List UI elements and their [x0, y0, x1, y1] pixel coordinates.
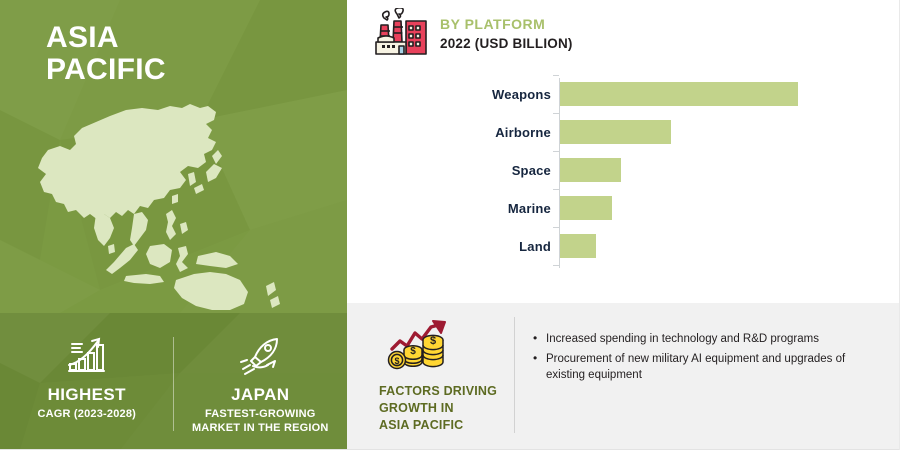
- svg-text:$: $: [394, 356, 399, 366]
- stat-japan-subtitle-line2: MARKET IN THE REGION: [192, 422, 329, 436]
- bar-row: Airborne: [467, 120, 887, 144]
- stat-cagr: HIGHEST CAGR (2023-2028): [0, 313, 174, 450]
- axis-tick: [553, 265, 559, 266]
- svg-text:$: $: [410, 346, 416, 357]
- bar-chart: WeaponsAirborneSpaceMarineLand: [467, 78, 887, 278]
- bar-chart-rows: WeaponsAirborneSpaceMarineLand: [467, 78, 887, 268]
- bar-category-label: Airborne: [467, 120, 551, 144]
- stat-cagr-title: HIGHEST: [48, 385, 126, 405]
- factors-divider: [514, 317, 515, 433]
- chart-header-text: BY PLATFORM 2022 (USD BILLION): [440, 8, 573, 52]
- stat-japan: JAPAN FASTEST-GROWING MARKET IN THE REGI…: [174, 313, 348, 450]
- region-title: ASIA PACIFIC: [46, 22, 166, 86]
- factor-bullet: Increased spending in technology and R&D…: [533, 331, 873, 348]
- factory-icon: [372, 8, 430, 60]
- rocket-growth-icon: [237, 333, 283, 379]
- stat-japan-subtitle-line1: FASTEST-GROWING: [192, 408, 329, 422]
- bar-row: Land: [467, 234, 887, 258]
- bar-row: Space: [467, 158, 887, 182]
- chart-panel: BY PLATFORM 2022 (USD BILLION) WeaponsAi…: [347, 0, 900, 303]
- bar-category-label: Weapons: [467, 82, 551, 106]
- infographic-page: ASIA PACIFIC: [0, 0, 900, 450]
- factors-title-line3: ASIA PACIFIC: [379, 417, 509, 434]
- factors-bullet-list: Increased spending in technology and R&D…: [533, 331, 873, 387]
- chart-subtitle: 2022 (USD BILLION): [440, 35, 573, 53]
- region-title-line1: ASIA: [46, 22, 166, 54]
- factors-title-line2: GROWTH IN: [379, 400, 509, 417]
- axis-tick: [553, 75, 559, 76]
- coins-growth-arrow-icon: $ $ $: [387, 319, 453, 377]
- bar: [560, 82, 798, 106]
- bar-category-label: Marine: [467, 196, 551, 220]
- region-panel: ASIA PACIFIC: [0, 0, 347, 450]
- bar-row: Weapons: [467, 82, 887, 106]
- axis-tick: [553, 189, 559, 190]
- factor-bullet: Procurement of new military AI equipment…: [533, 351, 873, 384]
- axis-tick: [553, 151, 559, 152]
- bar: [560, 234, 596, 258]
- bar: [560, 158, 621, 182]
- region-stats: HIGHEST CAGR (2023-2028): [0, 313, 347, 450]
- bar-row: Marine: [467, 196, 887, 220]
- region-panel-top: ASIA PACIFIC: [0, 0, 347, 313]
- asia-pacific-map-icon: [30, 96, 330, 311]
- bar-category-label: Space: [467, 158, 551, 182]
- svg-text:$: $: [430, 335, 436, 347]
- stat-divider: [173, 337, 174, 431]
- stat-cagr-subtitle: CAGR (2023-2028): [37, 408, 136, 422]
- factors-title: FACTORS DRIVING GROWTH IN ASIA PACIFIC: [379, 383, 509, 434]
- stat-japan-subtitle: FASTEST-GROWING MARKET IN THE REGION: [192, 408, 329, 436]
- chart-header: BY PLATFORM 2022 (USD BILLION): [372, 8, 573, 60]
- factors-panel: $ $ $: [347, 303, 900, 450]
- chart-kicker: BY PLATFORM: [440, 16, 573, 34]
- region-title-line2: PACIFIC: [46, 54, 166, 86]
- axis-tick: [553, 227, 559, 228]
- bar: [560, 196, 612, 220]
- factors-left: $ $ $: [379, 319, 509, 434]
- growth-bar-chart-icon: [64, 333, 110, 379]
- bar-category-label: Land: [467, 234, 551, 258]
- region-panel-bottom: HIGHEST CAGR (2023-2028): [0, 313, 347, 450]
- stat-japan-title: JAPAN: [231, 385, 289, 405]
- factors-title-line1: FACTORS DRIVING: [379, 383, 509, 400]
- axis-tick: [553, 113, 559, 114]
- bar: [560, 120, 671, 144]
